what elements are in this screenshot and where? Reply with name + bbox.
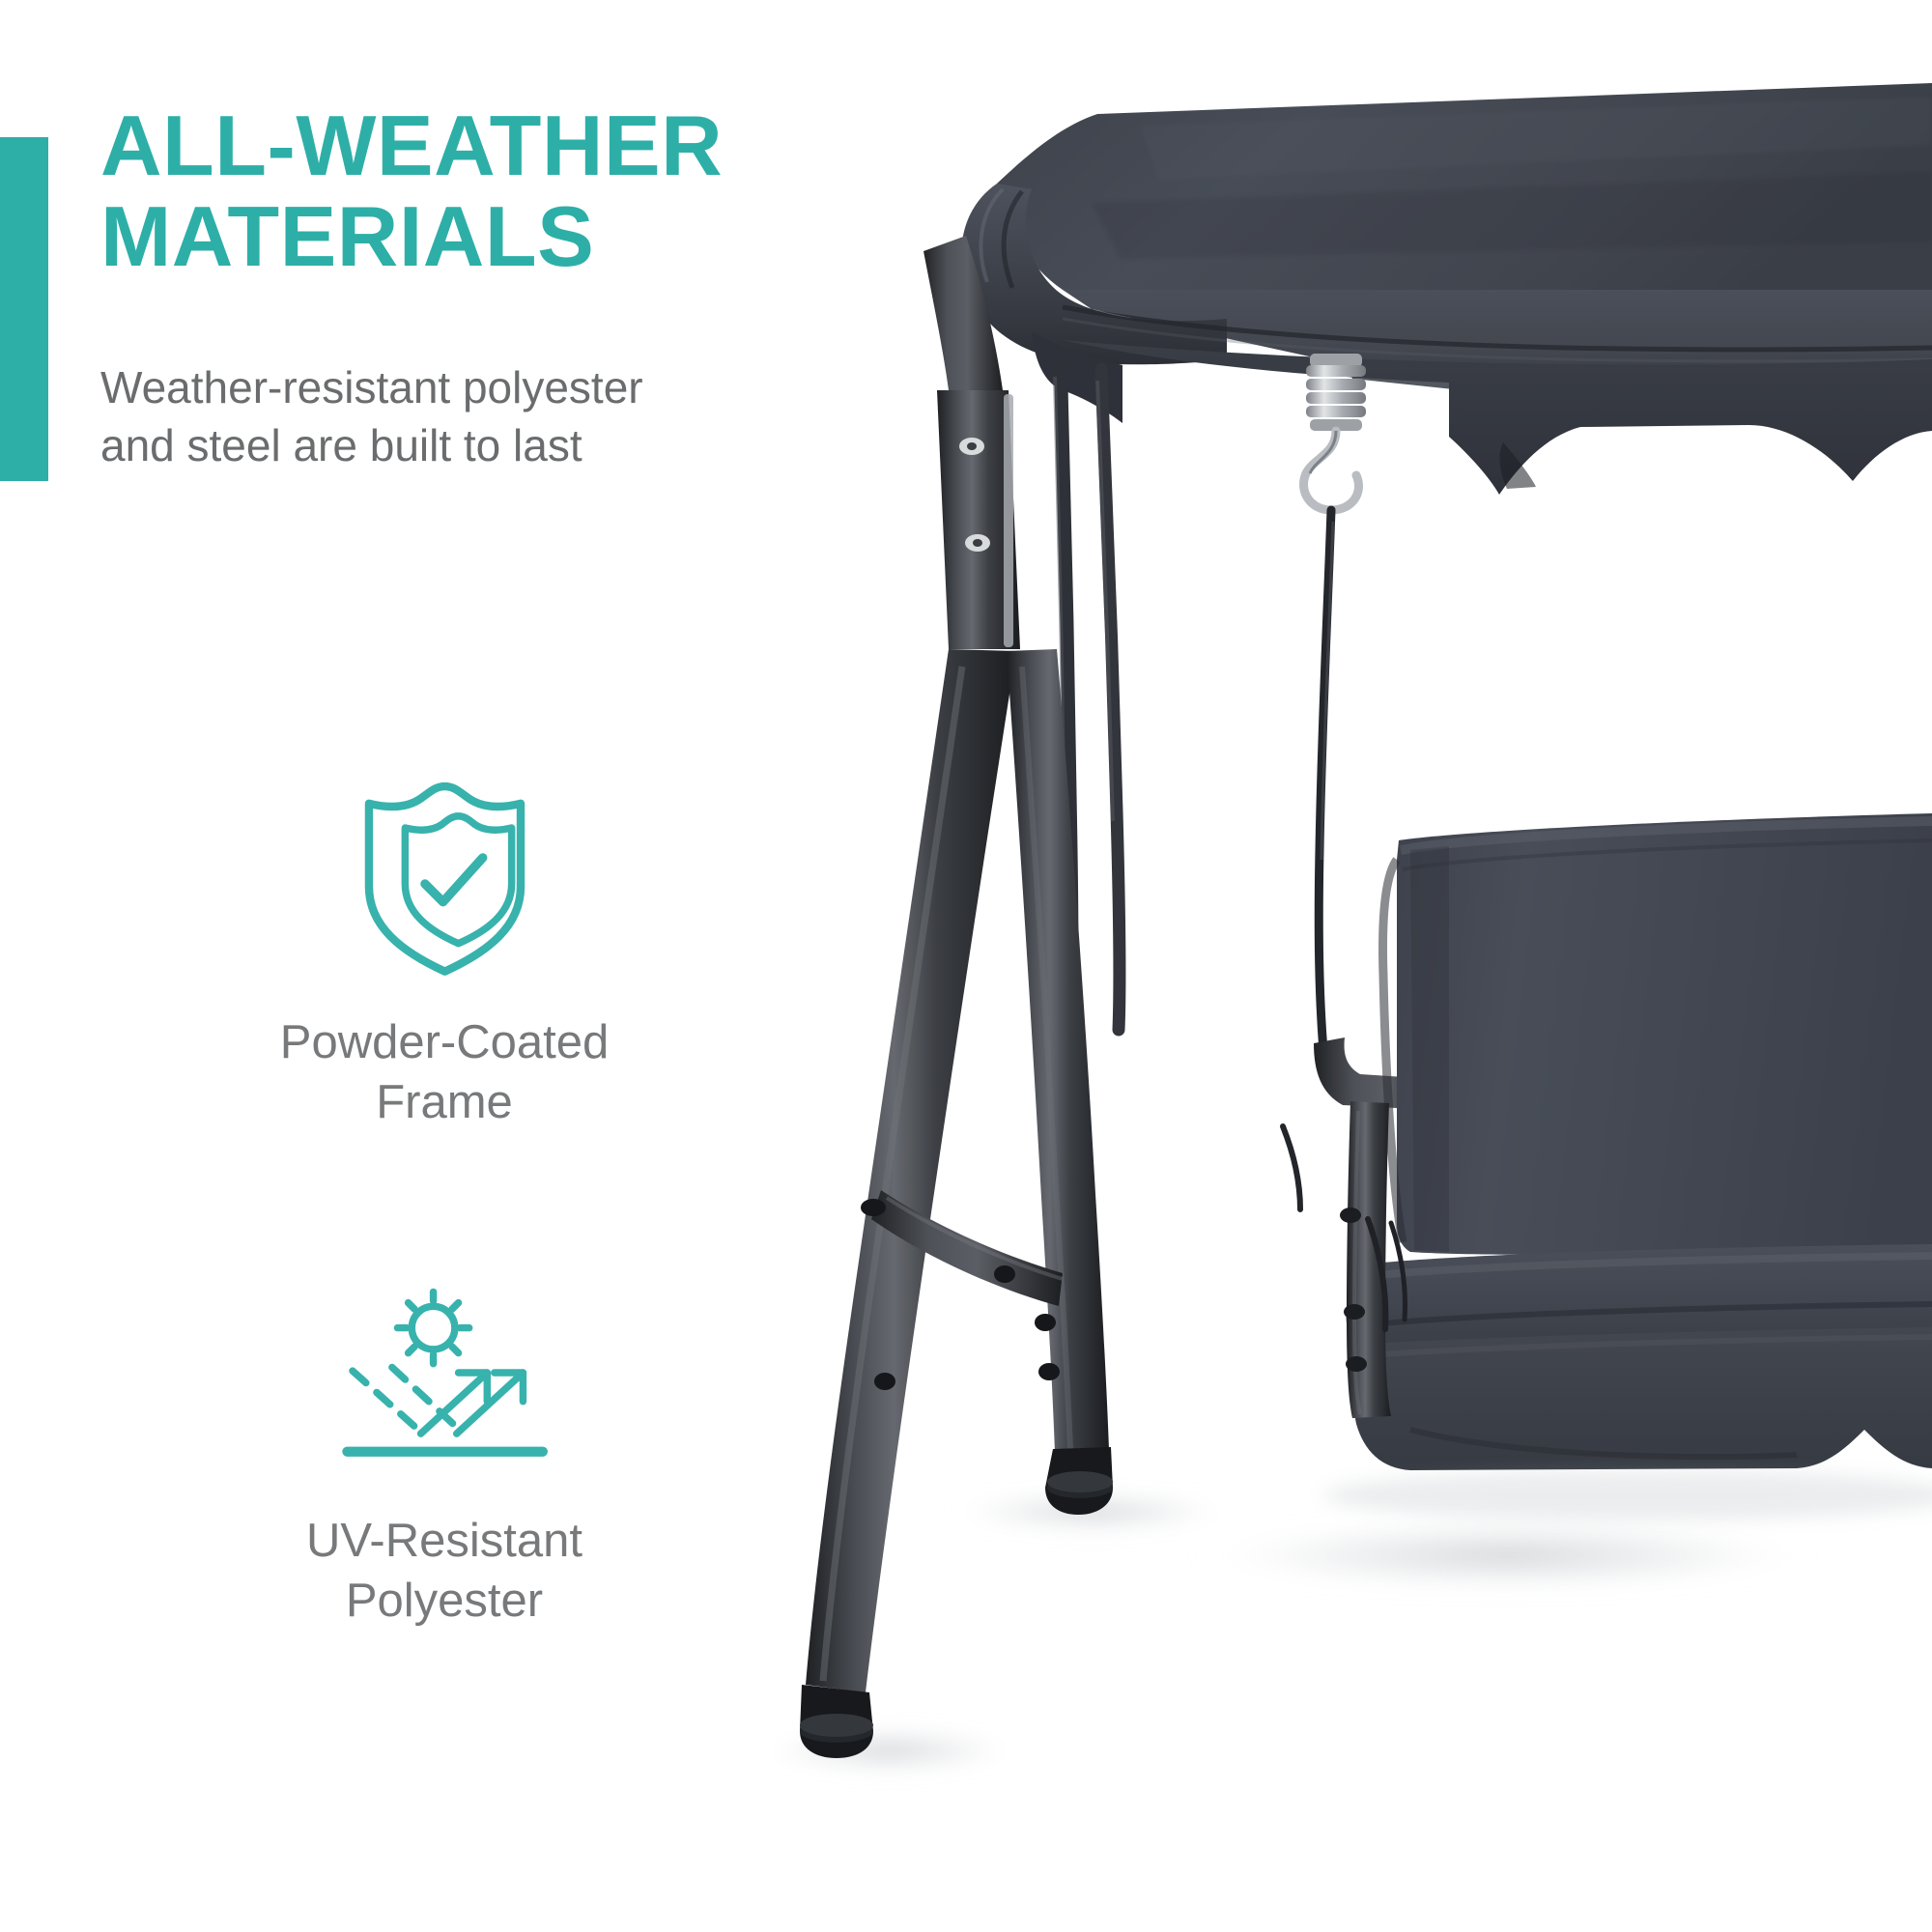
frame-coupler-sleeve [937, 390, 1020, 649]
foot-cap [800, 1685, 873, 1758]
accent-bar [0, 137, 48, 481]
feature-label: Powder-Coated Frame [126, 1013, 763, 1132]
product-illustration [773, 0, 1932, 1932]
floor-shadow [1188, 1517, 1826, 1594]
page-title: ALL-WEATHER MATERIALS [100, 100, 864, 282]
product-image [773, 0, 1932, 1932]
page-subtitle: Weather-resistant polyester and steel ar… [100, 359, 835, 475]
marketing-slide: ALL-WEATHER MATERIALS Weather-resistant … [0, 0, 1932, 1932]
feature-uv-resistant-polyester: UV-Resistant Polyester [126, 1285, 763, 1631]
seat-back-cushion [1397, 813, 1932, 1255]
feature-label: UV-Resistant Polyester [126, 1512, 763, 1631]
uv-reflect-icon [327, 1285, 560, 1473]
foot-cap [1045, 1447, 1113, 1515]
feature-powder-coated-frame: Powder-Coated Frame [126, 773, 763, 1132]
shield-check-icon [355, 773, 535, 980]
